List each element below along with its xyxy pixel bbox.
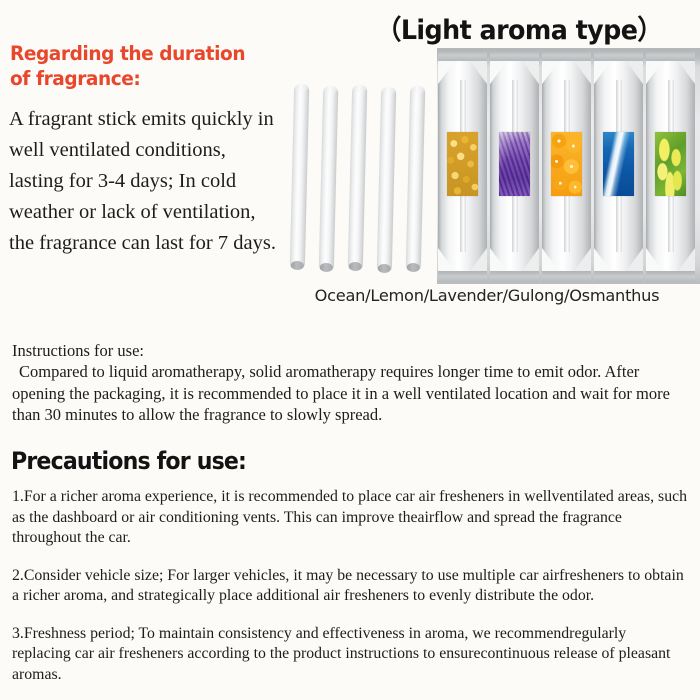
duration-body-text: A fragrant stick emits quickly in well v…: [9, 104, 285, 259]
precaution-item: 3.Freshness period; To maintain consiste…: [12, 624, 688, 686]
packet-crimp-top: [646, 50, 695, 61]
packet-label-lavender: [499, 132, 530, 196]
precaution-item: 1.For a richer aroma experience, it is r…: [12, 487, 688, 549]
instructions-body-text: Compared to liquid aromatherapy, solid a…: [12, 361, 688, 426]
packet-crimp-top: [438, 50, 487, 61]
precautions-list: 1.For a richer aroma experience, it is r…: [12, 487, 688, 685]
flavor-caption: Ocean/Lemon/Lavender/Gulong/Osmanthus: [0, 286, 700, 305]
sachet-packet-green-osmanthus: [646, 50, 695, 282]
packet-crimp-bottom: [542, 271, 591, 282]
sachet-packet-lavender: [490, 50, 539, 282]
packet-label-green-osmanthus: [655, 132, 686, 196]
sachet-packet-orange-citrus: [542, 50, 591, 282]
sachet-packets-group: [437, 48, 700, 288]
precaution-item: 2.Consider vehicle size; For larger vehi…: [12, 566, 688, 607]
fragrance-stick: [319, 86, 339, 272]
packet-label-ocean: [603, 132, 634, 196]
packet-crimp-bottom: [438, 271, 487, 282]
instructions-section: Instructions for use: Compared to liquid…: [12, 340, 688, 426]
precautions-heading: Precautions for use:: [11, 447, 246, 475]
packet-crimp-top: [490, 50, 539, 61]
sachet-packet-ocean: [594, 50, 643, 282]
fragrance-stick: [406, 86, 426, 272]
aroma-type-title: （Light aroma type）: [376, 8, 662, 47]
sachet-packet-osmanthus-gold: [438, 50, 487, 282]
fragrance-stick: [377, 87, 397, 273]
fragrance-stick: [290, 84, 310, 270]
duration-heading: Regarding the duration of fragrance:: [10, 41, 257, 91]
product-photo: [288, 48, 700, 288]
packet-crimp-bottom: [490, 271, 539, 282]
product-overview-section: （Light aroma type） Regarding the duratio…: [0, 0, 700, 320]
instructions-heading: Instructions for use:: [12, 340, 688, 361]
packet-label-orange-citrus: [551, 132, 582, 196]
packet-crimp-top: [594, 50, 643, 61]
fragrance-stick: [348, 85, 368, 271]
packet-crimp-top: [542, 50, 591, 61]
packet-crimp-bottom: [646, 271, 695, 282]
packet-label-osmanthus-gold: [447, 132, 478, 196]
fragrance-sticks-group: [288, 84, 436, 280]
packet-crimp-bottom: [594, 271, 643, 282]
